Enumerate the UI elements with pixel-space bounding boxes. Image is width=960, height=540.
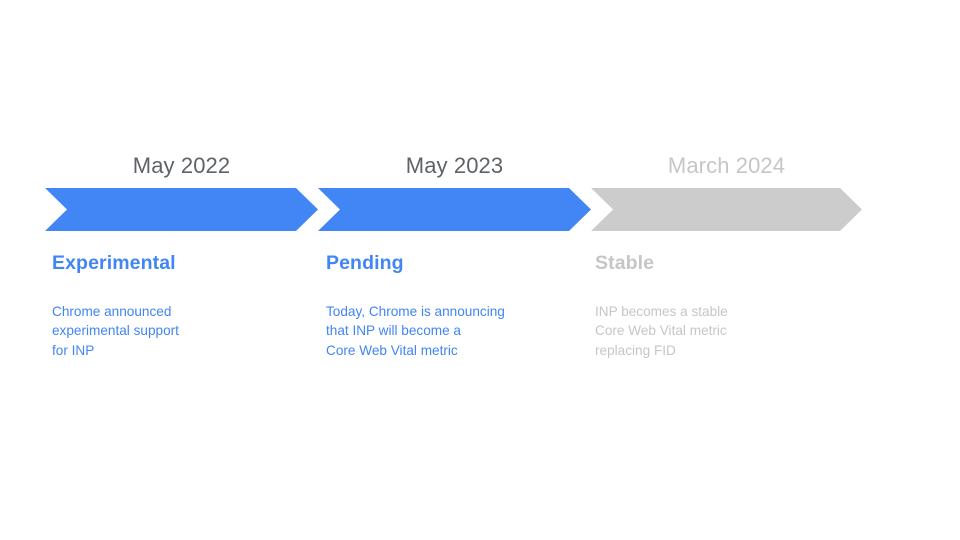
chevron-timeline: May 2022 May 2023 March 2024 Experimenta… [0,0,960,540]
stage-column-1: Experimental Chrome announced experiment… [52,250,307,360]
chevron-arrow-2 [318,188,591,231]
stage-title-2: Pending [326,250,588,276]
stage-date-2: May 2023 [318,152,591,180]
chevron-arrow-3 [591,188,862,231]
stage-description-line: experimental support [52,321,307,340]
stage-description-line: replacing FID [595,341,855,360]
chevron-arrow-band [0,186,960,234]
chevron-arrow-1 [45,188,318,231]
stage-description-line: Today, Chrome is announcing [326,302,588,321]
stage-date-3: March 2024 [591,152,862,180]
stage-title-1: Experimental [52,250,307,276]
stage-description-3: INP becomes a stable Core Web Vital metr… [595,302,855,360]
stage-description-line: INP becomes a stable [595,302,855,321]
stage-description-line: for INP [52,341,307,360]
stage-title-3: Stable [595,250,855,276]
stage-description-line: Chrome announced [52,302,307,321]
stage-description-2: Today, Chrome is announcing that INP wil… [326,302,588,360]
stage-column-3: Stable INP becomes a stable Core Web Vit… [595,250,855,360]
stage-description-line: Core Web Vital metric [326,341,588,360]
stage-description-line: that INP will become a [326,321,588,340]
stage-date-1: May 2022 [45,152,318,180]
stage-column-2: Pending Today, Chrome is announcing that… [326,250,588,360]
stage-description-1: Chrome announced experimental support fo… [52,302,307,360]
stage-description-line: Core Web Vital metric [595,321,855,340]
